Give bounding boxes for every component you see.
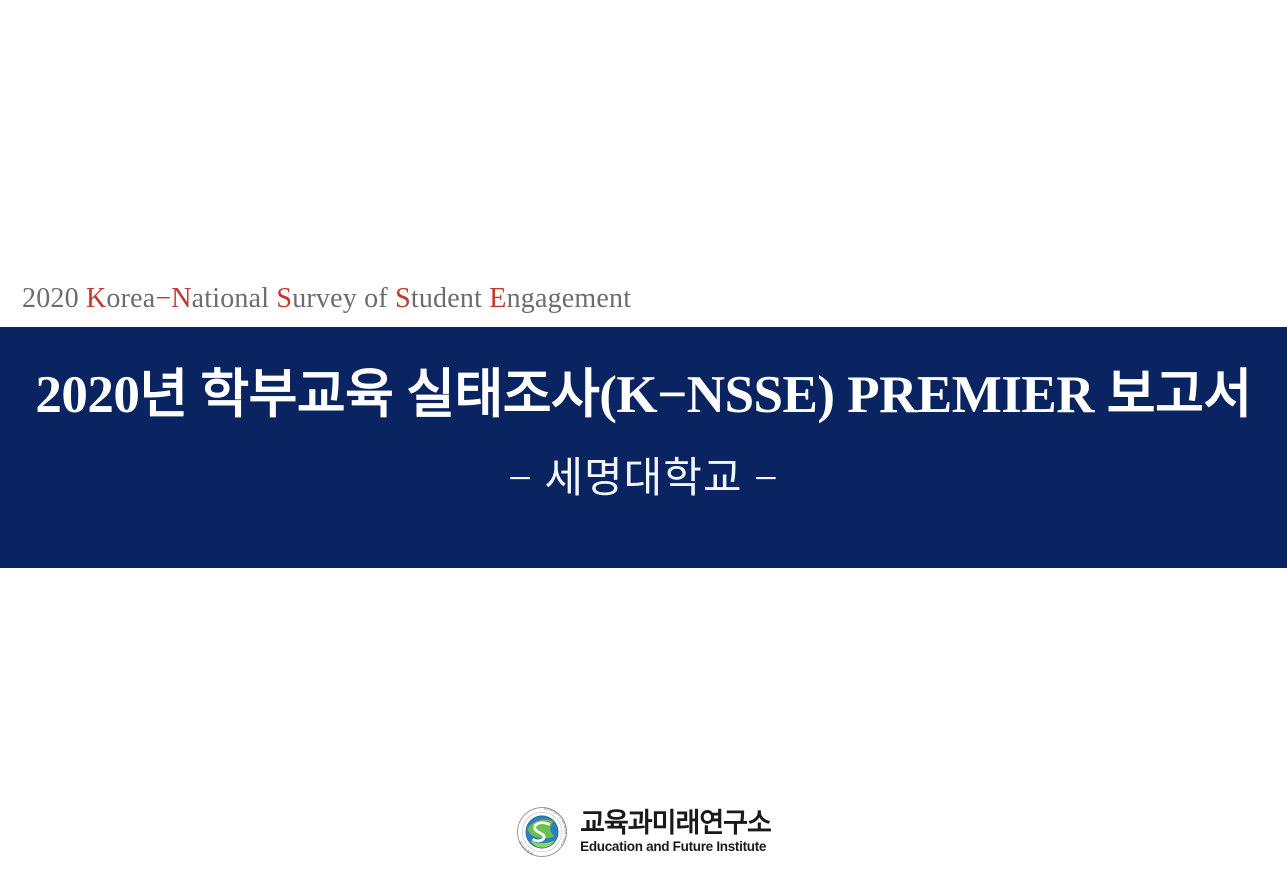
footer-logo-text: 교육과미래연구소 Education and Future Institute [580,810,771,854]
subtitle-segment-2: orea [106,283,155,314]
university-seal-globe-icon: SUNGKYUNKWAN UNIV 군육과미래 [516,806,568,858]
institute-name-ko: 교육과미래연구소 [580,810,771,837]
subtitle-segment-3: − [155,283,171,314]
subtitle-segment-1: K [86,283,106,314]
title-banner: 2020년 학부교육 실태조사(K−NSSE) PREMIER 보고서 − 세명… [0,327,1287,568]
subtitle-segment-5: ational [192,283,277,314]
subtitle-segment-4: N [171,283,191,314]
report-cover-slide: 2020 Korea−National Survey of Student En… [0,0,1287,878]
report-title: 2020년 학부교육 실태조사(K−NSSE) PREMIER 보고서 [0,359,1287,431]
subtitle-segment-11: ngagement [507,283,632,314]
institution-name: − 세명대학교 − [0,448,1287,510]
footer-logo: SUNGKYUNKWAN UNIV 군육과미래 교육과미래연구소 Educati… [0,806,1287,858]
program-subtitle: 2020 Korea−National Survey of Student En… [22,279,631,319]
subtitle-segment-0: 2020 [22,283,86,314]
subtitle-segment-7: urvey of [292,283,395,314]
subtitle-segment-6: S [276,283,292,314]
institute-name-en: Education and Future Institute [580,840,766,854]
subtitle-segment-8: S [395,283,411,314]
subtitle-segment-9: tudent [411,283,489,314]
subtitle-segment-10: E [489,283,506,314]
